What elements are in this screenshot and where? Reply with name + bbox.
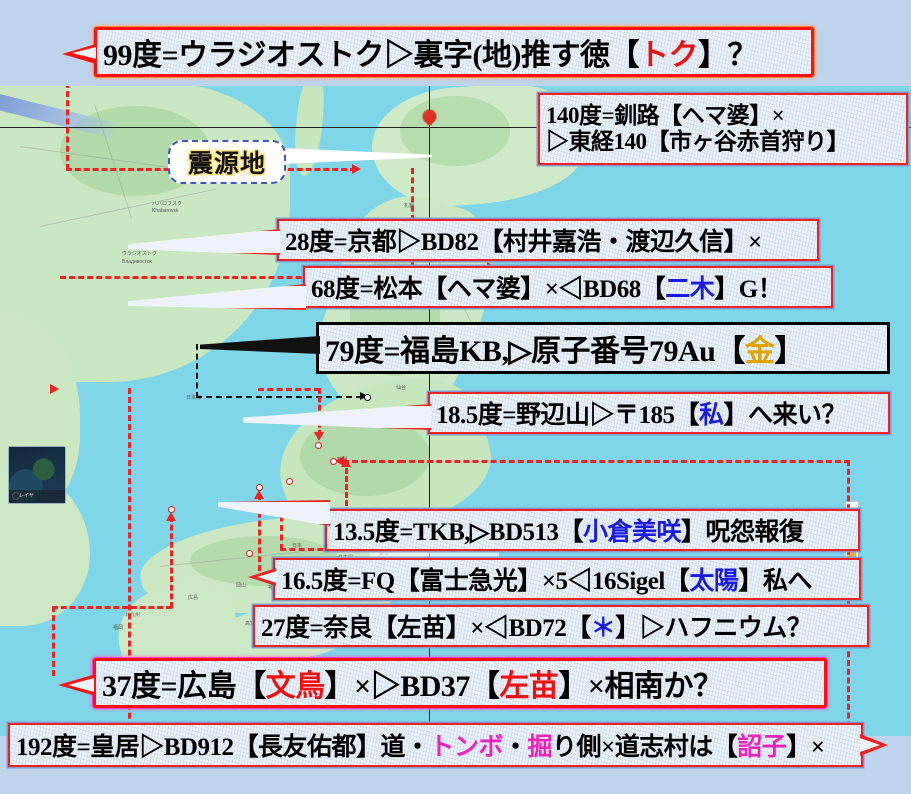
callout-text-run: り側×道志村は【 (552, 727, 737, 763)
connector-arrowhead (50, 384, 59, 394)
connector-79 (196, 396, 362, 398)
callout-text-run: 私 (699, 395, 724, 431)
connector-185-arrowhead (314, 432, 324, 441)
callout-text-run: 192度=皇居▷BD912【長友佑都】道・ (16, 727, 429, 763)
callout-text-run: 二木 (665, 269, 714, 305)
callout-27-degrees[interactable]: 27度=奈良【左苗】×◁BD72【＊】▷ハフニウム？ (253, 605, 869, 647)
callout-192-tail-fill (860, 738, 880, 752)
callout-text-run: 79度=福島KB,▷原子番号79Au【 (325, 326, 745, 370)
callout-text-run: 27度=奈良【左苗】×◁BD72【 (261, 608, 591, 644)
connector-99 (66, 86, 69, 170)
callout-68-degrees[interactable]: 68度=松本【ヘマ婆】×◁BD68【二木】G！ (303, 266, 833, 308)
map-node (246, 550, 253, 557)
callout-line: 140度=釧路【ヘマ婆】× (546, 103, 784, 129)
callout-text-run: ・ (503, 727, 528, 763)
callout-text-run: 13.5度=TKB,▷BD513【 (333, 512, 583, 548)
callout-text-run: 文鳥 (266, 661, 325, 705)
callout-16-5-degrees[interactable]: 16.5度=FQ【富士急光】×5◁16Sigel【太陽】私へ (273, 558, 861, 600)
map-node (168, 506, 175, 513)
callout-text-run: 】呪怨報復 (681, 512, 804, 548)
connector-135 (343, 460, 403, 463)
callout-99-degrees[interactable]: 99度=ウラジオストク▷裏字(地)推す徳【トク】？ (94, 27, 814, 77)
map-place-label: ハバロフスク (152, 202, 182, 208)
callout-13-5-degrees[interactable]: 13.5度=TKB,▷BD513【小倉美咲】呪怨報復 (325, 509, 860, 551)
map-node (286, 478, 293, 485)
map-node (315, 442, 322, 449)
connector-27-arrowhead (254, 490, 264, 499)
callout-text-run: トク (639, 30, 698, 74)
callout-18-5-degrees[interactable]: 18.5度=野辺山▷〒185【私】へ来い？ (428, 392, 890, 434)
connector-99-arrowhead (352, 164, 361, 174)
map-place-label: 岡山 (236, 584, 246, 590)
callout-text-run: 】▷ハフニウム？ (615, 608, 811, 644)
callout-99-tail-fill (72, 47, 96, 59)
map-place-label: 福岡 (113, 626, 123, 632)
map-place-label: ウラジオストク (122, 252, 157, 258)
connector-185 (258, 388, 320, 391)
page-root: ウラジオストクВладивостокハバロフスクKhabarovsk日本海日本札… (0, 0, 911, 794)
callout-28-degrees[interactable]: 28度=京都▷BD82【村井嘉浩・渡辺久信】× (277, 219, 819, 261)
landmass-sakhalin (291, 86, 327, 177)
callout-text-run: トンボ (429, 727, 503, 763)
callout-text-run: 18.5度=野辺山▷〒185【 (436, 395, 699, 431)
connector-135-arrowhead (341, 458, 351, 467)
map-place-label: 仙台 (396, 386, 406, 392)
callout-text-run: 68度=松本【ヘマ婆】×◁BD68【 (311, 269, 665, 305)
callout-140-degrees[interactable]: 140度=釧路【ヘマ婆】×▷東経140【市ヶ谷赤首狩り】 (538, 93, 908, 165)
callout-text-run: 金 (745, 326, 775, 370)
callout-text-run: 37度=広島【 (102, 661, 266, 705)
callout-text-run: 】× (786, 727, 824, 763)
callout-165-tail-fill (257, 571, 277, 583)
connector-37 (52, 606, 172, 609)
callout-192-degrees[interactable]: 192度=皇居▷BD912【長友佑都】道・トンボ・掘り側×道志村は【詔子】× (8, 723, 863, 767)
map-place-label: 広島 (188, 596, 198, 602)
epicenter-bubble: 震源地 (168, 140, 286, 184)
connector-37-arrowhead (166, 512, 176, 521)
callout-text-run: 】？ (698, 30, 757, 74)
connector-135 (400, 460, 850, 463)
callout-text-run: 99度=ウラジオストク▷裏字(地)推す徳【 (103, 30, 639, 74)
connector-79 (196, 344, 198, 398)
map-place-label: Khabarovsk (152, 209, 178, 215)
callout-text-run: 】G！ (714, 269, 782, 305)
callout-text-run: 】 (774, 326, 804, 370)
callout-text-run: 】×相南か？ (558, 661, 722, 705)
callout-text-run: 】私へ (738, 561, 812, 597)
callout-text-run: 16.5度=FQ【富士急光】×5◁16Sigel【 (281, 561, 689, 597)
callout-text-run: 詔子 (737, 727, 786, 763)
connector-37 (170, 516, 173, 608)
callout-text-run: 左苗 (499, 661, 558, 705)
connector-37 (52, 606, 55, 676)
map-node (256, 484, 263, 491)
callout-text-run: 小倉美咲 (583, 512, 681, 548)
map-node (364, 394, 371, 401)
callout-text-run: 】へ来い？ (724, 395, 847, 431)
callout-text-run: 28度=京都▷BD82【村井嘉浩・渡辺久信】× (285, 222, 762, 258)
callout-text-run: 】×▷BD37【 (325, 661, 500, 705)
epicenter-bubble-text: 震源地 (188, 144, 266, 180)
callout-text-run: 太陽 (689, 561, 738, 597)
map-layers-control[interactable]: レイヤ (8, 446, 66, 504)
callout-37-degrees[interactable]: 37度=広島【文鳥】×▷BD37【左苗】×相南か？ (93, 658, 827, 708)
map-place-label: Владивосток (122, 260, 152, 266)
callout-79-degrees[interactable]: 79度=福島KB,▷原子番号79Au【金】 (316, 322, 890, 374)
callout-line: ▷東経140【市ヶ谷赤首狩り】 (546, 129, 849, 155)
callout-37-tail-fill (68, 678, 94, 692)
callout-text-run: ＊ (591, 608, 616, 644)
layers-control-label: レイヤ (9, 490, 65, 503)
callout-text-run: 掘 (528, 727, 553, 763)
map-node (330, 458, 337, 465)
